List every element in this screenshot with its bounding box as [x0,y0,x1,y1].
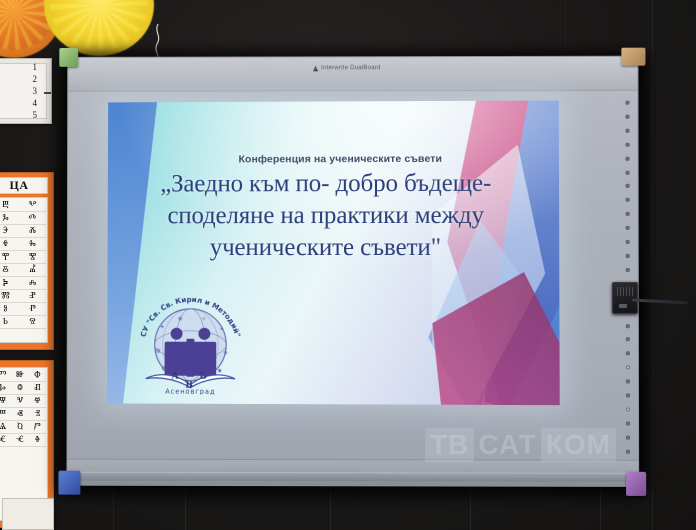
sensor-dot-strip[interactable] [622,101,632,454]
slide-title-line-1: „Заедно към по- добро бъдеще- [126,168,527,201]
glyph-cell: Ⰸ [19,238,46,251]
slide-title: „Заедно към по- добро бъдеще- споделяне … [125,168,527,264]
glyph-cell: Ⱔ [0,434,11,447]
glyph-cell: Ⱀ [19,290,46,303]
sensor-dot [625,198,629,202]
sensor-dot [625,184,629,188]
slide-title-line-2: споделяне на практики между [125,200,526,232]
glyph-cell: Ⰳ [0,212,19,225]
glyph-cell: Ⰾ [19,277,46,290]
sensor-dot [625,324,629,328]
glyph-cell: Ⰲ [19,199,46,212]
svg-text:✧: ✧ [201,316,206,323]
school-logo-emblem: ✦❋ ✧✶ ✿✵ ❂✸ [132,287,249,395]
glyph-cell: Ⱁ [0,303,19,316]
sensor-dot [625,156,629,160]
glyph-cell: Ⱉ [11,382,28,395]
interactive-whiteboard[interactable]: Interwrite DualBoard Конференция на учен… [66,56,639,487]
svg-text:✦: ✦ [160,324,165,331]
glyph-cell: Ⱅ [0,369,11,382]
glyph-cell: Ⱖ [29,434,46,447]
book-letter-a: А [171,372,179,382]
sensor-dot [625,352,629,356]
glyph-cell: Ⰵ [0,225,19,238]
svg-text:✿: ✿ [156,348,161,355]
numbers-list: 1 2 3 4 5 [33,62,38,121]
glyph-cell: Ⱄ [19,316,46,329]
slide-subtitle: Конференция на ученическите съвети [181,153,500,166]
glyph-cell: Ⰴ [19,212,46,225]
whiteboard-top-frame [68,57,637,92]
glyph-cell: Ⱂ [19,303,46,316]
glyph-cell: Ⱈ [0,382,11,395]
sensor-dot [625,115,629,119]
svg-text:✸: ✸ [217,368,222,375]
glyph-cell: Ⰺ [19,251,46,264]
sensor-dot [625,268,629,272]
wall-seam [652,0,653,530]
glyph-cell: Ⱑ [0,421,11,434]
sensor-dot [625,407,629,411]
logo-city-text: Асеновград [165,388,215,395]
sensor-dot [625,240,629,244]
school-logo: ✦❋ ✧✶ ✿✵ ❂✸ [132,287,249,395]
glyph-cell: Ⱇ [29,369,46,382]
sensor-dot [625,226,629,230]
numbers-chart-inner [0,63,47,119]
glagolitic-alphabet-poster: ЦА ⰁⰂⰃⰄⰅⰆⰇⰈⰉⰊⰋⰌⰍⰎⰏⰐⰑⰒⰓⰔ [0,172,54,350]
sensor-dot [625,101,629,105]
sensor-dot [625,142,629,146]
glyph-cell: Ⱒ [11,421,28,434]
glyph-cell: Ⰱ [0,199,19,212]
device-vent [617,287,635,296]
glyph-cell: Ⱎ [0,408,11,421]
whiteboard-bottom-frame [67,459,638,486]
glyph-cell: Ⱓ [29,421,46,434]
sensor-dot [625,129,629,133]
number-item: 3 [33,86,38,97]
glyph-cell: Ⰹ [0,251,19,264]
glyph-cell: Ⰼ [19,264,46,277]
glyph-cell: Ⱃ [0,316,19,329]
sensor-dot [625,393,629,397]
glyph-cell: Ⰿ [0,290,19,303]
glyph-cell: Ⰶ [19,225,46,238]
sensor-dot [625,338,629,342]
classroom-photo-scene: 1 2 3 4 5 ЦА ⰁⰂⰃⰄⰅⰆⰇⰈⰉⰊⰋⰌⰍⰎⰏⰐⰑⰒⰓⰔ ⰕⰖⰗⰘⰙⰚ… [0,0,696,530]
brand-logo-icon [313,65,318,71]
sensor-dot [625,366,629,370]
svg-text:✶: ✶ [219,326,224,333]
projected-slide: Конференция на ученическите съвети „Заед… [107,100,560,405]
whiteboard-brand-label: Interwrite DualBoard [313,65,443,71]
brand-name: Interwrite DualBoard [321,65,381,71]
glyph-cell: Ⱐ [29,408,46,421]
pen-tray[interactable] [75,472,630,482]
slide-title-line-3: ученическите съвети" [125,232,527,264]
sensor-dot [625,421,629,425]
sensor-dot [625,379,629,383]
glyph-cell: Ⱕ [11,434,28,447]
bottom-left-bracket [58,471,80,495]
number-item: 2 [33,74,38,85]
glyph-cell: Ⱍ [29,395,46,408]
sensor-dot [625,449,629,453]
sensor-dot [625,170,629,174]
device-indicator [619,304,627,308]
sensor-dot [625,435,629,439]
bottom-right-bracket [626,472,646,496]
sensor-dot [625,254,629,258]
glyph-cell: Ⱋ [0,395,11,408]
sensor-dot [625,212,629,216]
glyph-cell: Ⰷ [0,238,19,251]
book-letter-b: Б [199,372,207,382]
number-item: 1 [33,62,38,73]
glyph-cell: Ⰽ [0,277,19,290]
glyph-cell: Ⱆ [11,369,28,382]
arrow-icon [44,89,52,97]
number-item: 5 [33,110,38,121]
poster-header: ЦА [0,177,48,194]
svg-text:✵: ✵ [223,350,228,357]
glyph-cell: Ⰻ [0,264,19,277]
svg-text:❋: ❋ [178,316,183,323]
number-item: 4 [33,98,38,109]
glyph-cell: Ⱏ [11,408,28,421]
numbers-chart-poster: 1 2 3 4 5 [0,58,52,124]
glyph-cell: Ⱌ [11,395,28,408]
top-left-bracket [59,48,78,67]
top-right-bracket [621,48,645,66]
small-white-poster [2,498,54,530]
glyph-grid: ⰁⰂⰃⰄⰅⰆⰇⰈⰉⰊⰋⰌⰍⰎⰏⰐⰑⰒⰓⰔ [0,197,48,343]
glyph-cell: Ⱊ [29,382,46,395]
